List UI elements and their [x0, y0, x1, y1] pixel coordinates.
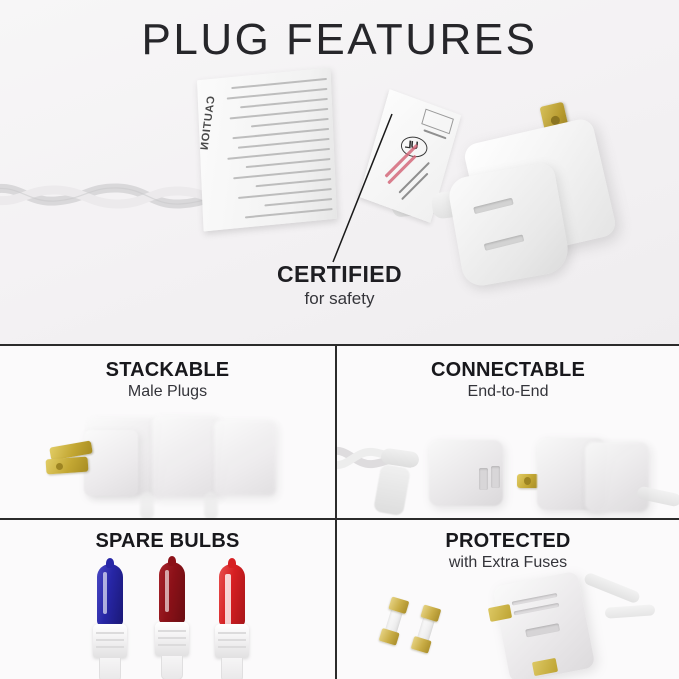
certified-subtitle: for safety — [0, 289, 679, 309]
caution-tag-word: CAUTION — [199, 96, 218, 151]
panel-spare-bulbs-title: SPARE BULBS — [0, 530, 335, 553]
bulb-red — [215, 564, 249, 679]
panel-protected[interactable]: PROTECTED with Extra Fuses — [337, 520, 679, 679]
panel-connectable-subtitle: End-to-End — [337, 383, 679, 401]
wire-icon — [0, 183, 226, 217]
certified-callout: CERTIFIED for safety — [0, 262, 679, 309]
twisted-wire-graphic — [0, 183, 226, 217]
caution-tag: CAUTION — [197, 68, 337, 232]
panel-connectable[interactable]: CONNECTABLE End-to-End — [337, 346, 679, 518]
panel-protected-title: PROTECTED — [337, 530, 679, 553]
fuse-right — [411, 604, 442, 653]
bulb-blue — [93, 564, 127, 679]
panel-spare-bulbs[interactable]: SPARE BULBS — [0, 520, 335, 679]
panel-connectable-title: CONNECTABLE — [337, 359, 679, 382]
page-title: PLUG FEATURES — [0, 18, 679, 62]
feature-grid: STACKABLE Male Plugs CONNECTABLE End-to-… — [0, 344, 679, 679]
panel-stackable[interactable]: STACKABLE Male Plugs — [0, 346, 335, 518]
infographic-page: PLUG FEATURES CAUTION — [0, 0, 679, 679]
fuse-left — [379, 596, 410, 645]
panel-protected-subtitle: with Extra Fuses — [337, 554, 679, 572]
certified-title: CERTIFIED — [0, 262, 679, 287]
caution-tag-fineprint — [223, 74, 333, 226]
panel-stackable-title: STACKABLE — [0, 359, 335, 382]
hero-section: PLUG FEATURES CAUTION — [0, 0, 679, 344]
bulb-dark-red — [155, 562, 189, 679]
panel-stackable-subtitle: Male Plugs — [0, 383, 335, 401]
